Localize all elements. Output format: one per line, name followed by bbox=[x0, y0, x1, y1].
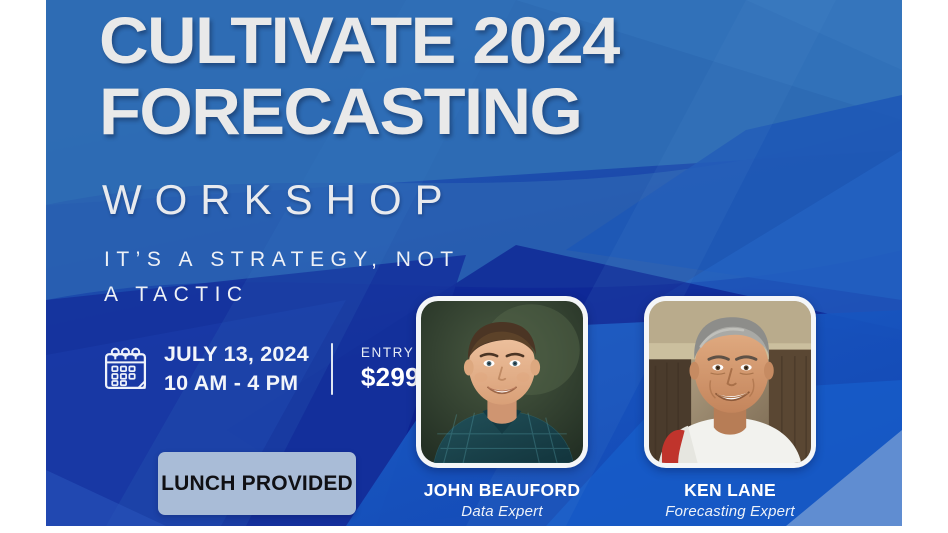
speaker-name: KEN LANE bbox=[644, 480, 816, 501]
headline-line-1: CULTIVATE 2024 bbox=[99, 8, 827, 73]
poster-stage: CULTIVATE 2024 FORECASTING WORKSHOP IT’S… bbox=[0, 0, 948, 533]
event-poster: CULTIVATE 2024 FORECASTING WORKSHOP IT’S… bbox=[46, 0, 902, 526]
speaker-role: Forecasting Expert bbox=[644, 503, 816, 520]
portrait-john-beauford bbox=[421, 301, 583, 463]
speaker-name: JOHN BEAUFORD bbox=[416, 480, 588, 501]
lunch-provided-badge: LUNCH PROVIDED bbox=[158, 452, 356, 515]
speaker-card-ken-lane: KEN LANE Forecasting Expert bbox=[644, 296, 816, 520]
vertical-divider bbox=[331, 343, 333, 395]
photo-frame bbox=[644, 296, 816, 468]
event-time: 10 AM - 4 PM bbox=[164, 369, 309, 398]
portrait-ken-lane bbox=[649, 301, 811, 463]
subtitle-workshop: WORKSHOP bbox=[102, 176, 456, 224]
headline-line-2: FORECASTING bbox=[99, 79, 827, 144]
tagline-text: IT’S A STRATEGY, NOT A TACTIC bbox=[104, 243, 460, 312]
speakers-row: JOHN BEAUFORD Data Expert bbox=[416, 296, 856, 520]
event-date-block: JULY 13, 2024 10 AM - 4 PM bbox=[164, 340, 309, 398]
calendar-icon bbox=[101, 344, 150, 393]
photo-frame bbox=[416, 296, 588, 468]
event-info-row: JULY 13, 2024 10 AM - 4 PM ENTRY : $299 bbox=[101, 340, 425, 398]
speaker-card-john-beauford: JOHN BEAUFORD Data Expert bbox=[416, 296, 588, 520]
event-date: JULY 13, 2024 bbox=[164, 340, 309, 369]
headline-block: CULTIVATE 2024 FORECASTING bbox=[99, 8, 799, 145]
speaker-role: Data Expert bbox=[416, 503, 588, 520]
